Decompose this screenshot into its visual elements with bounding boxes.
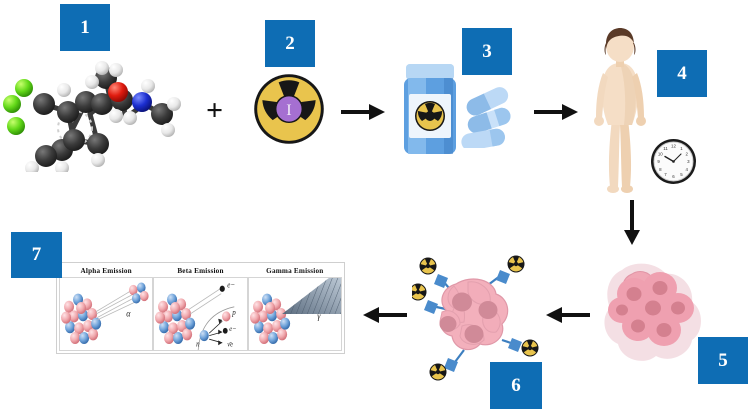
gamma-ray-label: γ xyxy=(317,310,321,321)
step-badge-7-label: 7 xyxy=(32,244,42,266)
drug-molecule-illustration xyxy=(2,52,198,172)
alpha-emission-figure: α xyxy=(59,277,153,351)
radiation-emission-panel: Alpha Emission xyxy=(56,262,345,354)
step-badge-5-label: 5 xyxy=(718,350,728,372)
uptake-clock: 12 1 2 3 4 5 6 7 8 9 10 11 xyxy=(650,138,697,185)
emission-column-gamma: Gamma Emission xyxy=(248,265,342,351)
step-badge-6-label: 6 xyxy=(511,375,521,397)
plus-label: + xyxy=(206,94,223,127)
step-badge-2: 2 xyxy=(265,20,315,67)
gamma-emission-title: Gamma Emission xyxy=(266,267,323,275)
alpha-emission-title: Alpha Emission xyxy=(80,267,131,275)
step-badge-7: 7 xyxy=(11,232,62,278)
step-badge-4: 4 xyxy=(657,50,707,97)
gamma-emission-figure: γ xyxy=(248,277,342,351)
neutron-label: n xyxy=(196,339,200,349)
beta-electron-label-2: e− xyxy=(230,324,237,333)
flow-arrow-left-1 xyxy=(545,306,590,324)
step-badge-1: 1 xyxy=(60,4,110,51)
beta-electron-label: e− xyxy=(228,280,236,290)
beta-emission-figure: e− p n xyxy=(153,277,247,351)
svg-text:12: 12 xyxy=(671,144,676,149)
radioactive-isotope-icon: I xyxy=(252,72,326,146)
beta-emission-title: Beta Emission xyxy=(177,267,223,275)
step-badge-3: 3 xyxy=(462,28,512,75)
svg-text:11: 11 xyxy=(663,146,668,151)
step-badge-3-label: 3 xyxy=(482,41,492,63)
alpha-particle-label: α xyxy=(126,308,131,319)
svg-text:10: 10 xyxy=(658,152,663,157)
flow-arrow-right-1 xyxy=(341,103,386,121)
emission-column-alpha: Alpha Emission xyxy=(59,265,153,351)
radiopharmaceutical-bottle xyxy=(400,62,460,157)
tumour-mass-illustration xyxy=(598,252,708,370)
step-badge-4-label: 4 xyxy=(677,63,687,85)
patient-figure xyxy=(588,27,652,193)
flow-arrow-down xyxy=(622,200,642,246)
flow-arrow-right-2 xyxy=(534,103,579,121)
flow-arrow-left-2 xyxy=(362,306,407,324)
step-badge-5: 5 xyxy=(698,337,748,384)
step-badge-1-label: 1 xyxy=(80,17,90,39)
figure-canvas: 1 + I 2 xyxy=(0,0,753,411)
capsules-illustration xyxy=(459,86,519,148)
emission-column-beta: Beta Emission xyxy=(153,265,247,351)
step-badge-2-label: 2 xyxy=(285,33,295,55)
antineutrino-label: ν̄e xyxy=(228,340,235,349)
plus-operator: + xyxy=(206,96,223,126)
proton-label: p xyxy=(232,308,237,318)
step-badge-6: 6 xyxy=(490,362,542,409)
isotope-symbol-label: I xyxy=(286,100,291,119)
